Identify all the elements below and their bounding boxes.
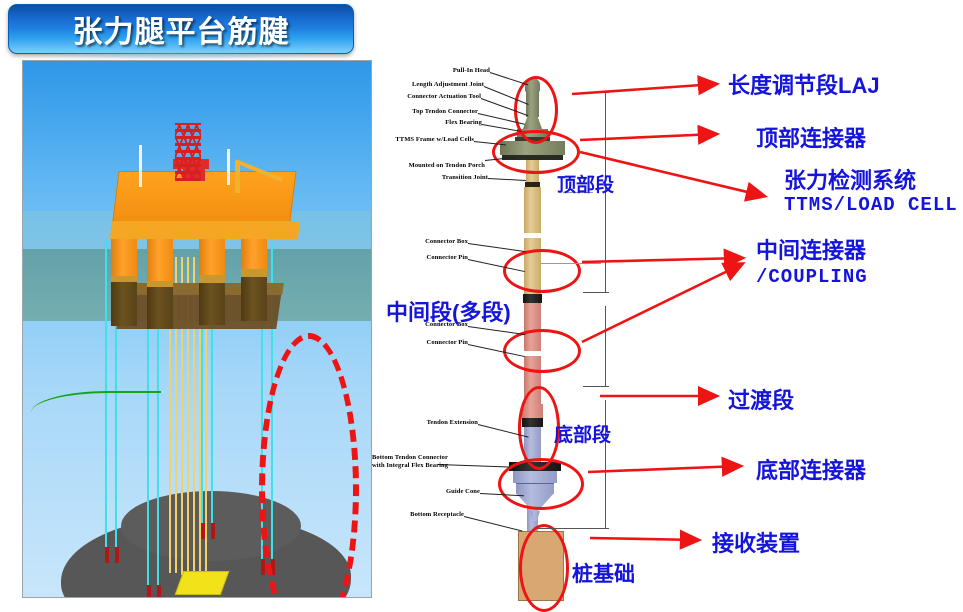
- pile-head: [211, 523, 215, 539]
- platform-column: [111, 226, 137, 326]
- dimension-tick-misc: [538, 528, 608, 529]
- highlight-ellipse-top-connector: [492, 130, 580, 174]
- callout-tendon-porch: Mounted on Tendon Porch: [388, 162, 485, 169]
- banner-glow: [26, 50, 326, 60]
- callout-guide-cone: Guide Cone: [434, 488, 480, 495]
- highlight-ellipse: [259, 333, 359, 598]
- annotation-receiver: 接收装置: [712, 526, 800, 558]
- pile-head: [147, 585, 151, 598]
- annotation-mid-connector-line1: 中间连接器: [756, 238, 868, 264]
- title-banner: 张力腿平台筋腱: [8, 4, 354, 54]
- annotation-top-connector-line1: 顶部连接器: [756, 126, 866, 151]
- callout-connector-pin-2: Connector Pin: [416, 339, 468, 346]
- pile-head: [105, 547, 109, 563]
- annotation-mid-connector-line2: /COUPLING: [756, 264, 868, 290]
- callout-bottom-tendon-connector: Bottom Tendon Connector: [372, 454, 438, 461]
- section-label-top: 顶部段: [557, 170, 614, 197]
- highlight-ellipse-mid-connector-1: [503, 249, 581, 293]
- highlight-ellipse-mid-connector-2: [503, 329, 581, 373]
- annotation-bottom-connector: 底部连接器: [756, 453, 866, 485]
- annotation-receiver-line1: 接收装置: [712, 531, 800, 556]
- callout-top-tendon-connector: Top Tendon Connector: [402, 108, 478, 115]
- callout-pull-in-head: Pull-In Head: [430, 67, 490, 74]
- callout-transition-joint: Transition Joint: [426, 174, 488, 181]
- annotation-laj: 长度调节段LAJ: [728, 68, 880, 100]
- annotation-transition-line1: 过渡段: [728, 388, 794, 413]
- connector-pin-1: [523, 294, 542, 303]
- leader-line: [488, 178, 526, 181]
- annotation-bottom-connector-line1: 底部连接器: [756, 458, 866, 483]
- leader-line: [468, 243, 526, 252]
- section-label-bottom: 底部段: [554, 420, 611, 447]
- callout-length-adjustment: Length Adjustment Joint: [396, 81, 484, 88]
- section-label-middle: 中间段(多段): [386, 295, 511, 327]
- callout-bottom-receptacle: Bottom Receptacle: [402, 511, 464, 518]
- tendon-assembly-diagram: Pull-In Head Length Adjustment Joint Con…: [378, 56, 958, 602]
- dimension-tick: [583, 292, 609, 293]
- callout-flex-bearing: Flex Bearing: [428, 119, 482, 126]
- highlight-ellipse-receptacle: [519, 524, 569, 612]
- callout-connector-box-1: Connector Box: [416, 238, 468, 245]
- topside-deck-lower: [110, 221, 300, 239]
- annotation-tension-monitor-line2: TTMS/LOAD CELL: [784, 193, 958, 218]
- subsea-manifold: [175, 571, 230, 595]
- deck-crane: [235, 161, 240, 193]
- callout-connector-actuation: Connector Actuation Tool: [392, 93, 481, 100]
- annotation-tension-monitor-line1: 张力检测系统: [784, 168, 958, 193]
- slide-root: 张力腿平台筋腱: [0, 0, 963, 602]
- annotation-transition: 过渡段: [728, 383, 794, 415]
- leader-line: [438, 464, 510, 468]
- platform-column: [147, 233, 173, 329]
- pile-head: [201, 523, 205, 539]
- annotation-mid-connector: 中间连接器 /COUPLING: [756, 238, 868, 290]
- dimension-tick: [583, 92, 609, 93]
- dimension-tick: [583, 386, 609, 387]
- callout-tendon-extension: Tendon Extension: [420, 419, 478, 426]
- annotation-top-connector: 顶部连接器: [756, 121, 866, 153]
- callout-ttms-frame: TTMS Frame w/Load Cells: [382, 136, 474, 143]
- tlp-platform-3d-render: [22, 60, 372, 598]
- annotation-laj-line1: 长度调节段LAJ: [728, 73, 880, 98]
- callout-connector-pin-1: Connector Pin: [416, 254, 468, 261]
- pile-head: [157, 585, 161, 598]
- flare-mast: [139, 145, 142, 187]
- pile-head: [115, 547, 119, 563]
- leader-line: [468, 326, 526, 335]
- flowline-green: [31, 391, 161, 427]
- annotation-tension-monitor: 张力检测系统 TTMS/LOAD CELL: [784, 168, 958, 218]
- highlight-ellipse-bottom-connector: [498, 458, 584, 510]
- dimension-line-middle: [605, 306, 606, 386]
- leader-line: [464, 516, 522, 531]
- drilling-derrick: [175, 123, 201, 181]
- section-label-pile: 桩基础: [572, 558, 635, 588]
- dimension-tick-misc: [541, 263, 601, 264]
- leader-line: [490, 72, 528, 85]
- flare-mast: [227, 149, 230, 185]
- top-segment-pipe: [524, 187, 541, 233]
- callout-bottom-tendon-connector-2: with Integral Flex Bearing: [372, 462, 438, 469]
- platform-column: [199, 229, 225, 325]
- page-title: 张力腿平台筋腱: [9, 5, 353, 53]
